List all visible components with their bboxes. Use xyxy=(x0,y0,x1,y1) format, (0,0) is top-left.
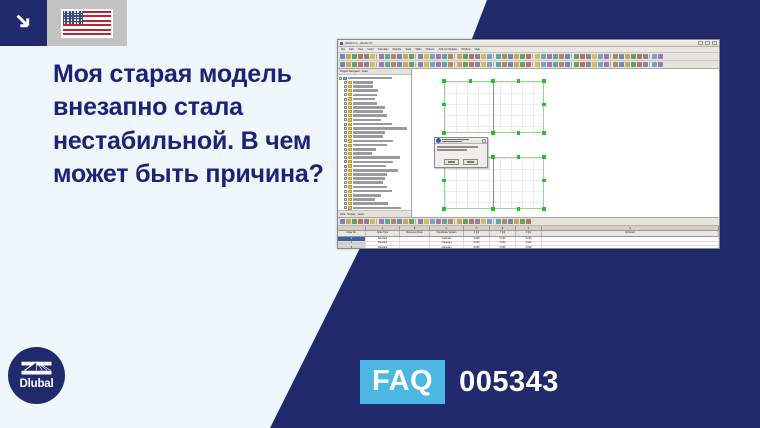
faq-footer: FAQ 005343 xyxy=(360,360,559,404)
expand-icon[interactable] xyxy=(344,106,347,109)
toolbar-icon[interactable] xyxy=(610,54,612,59)
model-node[interactable] xyxy=(442,103,445,106)
toolbar-icon[interactable] xyxy=(376,62,378,67)
toolbar-icon[interactable] xyxy=(508,54,513,59)
menu-item-insert[interactable]: Insert xyxy=(367,48,374,51)
model-node[interactable] xyxy=(491,131,494,134)
expand-icon[interactable] xyxy=(344,144,347,147)
app-toolbar-primary[interactable] xyxy=(338,53,719,61)
toolbar-icon[interactable] xyxy=(469,219,474,224)
model-node[interactable] xyxy=(442,79,445,82)
table-cell-ref[interactable] xyxy=(400,242,430,246)
us-flag-icon xyxy=(61,9,113,38)
model-node[interactable] xyxy=(542,131,545,134)
col-z: Z [m] xyxy=(516,231,542,236)
expand-icon[interactable] xyxy=(344,139,347,142)
menu-item-options[interactable]: Options xyxy=(426,48,435,51)
toolbar-icon[interactable] xyxy=(643,62,648,67)
toolbar-icon[interactable] xyxy=(457,54,462,59)
table-cell-type[interactable]: Standard xyxy=(366,246,400,249)
menu-item-view[interactable]: View xyxy=(358,48,364,51)
navigator-tabs[interactable]: Data Display Views xyxy=(338,210,411,217)
toolbar-icon[interactable] xyxy=(514,219,519,224)
toolbar-icon[interactable] xyxy=(625,54,630,59)
expand-icon[interactable] xyxy=(344,123,347,126)
toolbar-icon[interactable] xyxy=(403,54,408,59)
toolbar-icon[interactable] xyxy=(358,62,363,67)
table-cell-cs[interactable]: Cartesian xyxy=(430,242,464,246)
model-node[interactable] xyxy=(442,207,445,210)
toolbar-icon[interactable] xyxy=(346,54,351,59)
toolbar-icon[interactable] xyxy=(385,219,390,224)
expand-icon[interactable] xyxy=(344,89,347,92)
toolbar-icon[interactable] xyxy=(493,62,495,67)
toolbar-icon[interactable] xyxy=(409,219,414,224)
data-table-panel[interactable]: A B C D E F G Node No. Node Type Referen… xyxy=(338,217,719,249)
project-navigator[interactable]: Project Navigator - Data Data Display Vi… xyxy=(338,69,412,217)
model-node[interactable] xyxy=(469,79,472,82)
table-cell-cs[interactable]: Cartesian xyxy=(430,246,464,249)
model-node[interactable] xyxy=(542,155,545,158)
table-group-b: B xyxy=(400,226,430,230)
toolbar-icon[interactable] xyxy=(496,219,501,224)
toolbar-icon[interactable] xyxy=(475,54,480,59)
col-comment: Comment xyxy=(542,231,719,236)
navigator-tab-views[interactable]: Views xyxy=(357,213,364,216)
toolbar-icon[interactable] xyxy=(442,54,447,59)
navigator-item-label xyxy=(353,94,377,97)
menu-item-table[interactable]: Table xyxy=(415,48,421,51)
toolbar-icon[interactable] xyxy=(586,62,591,67)
toolbar-icon[interactable] xyxy=(475,219,480,224)
expand-icon[interactable] xyxy=(344,206,347,209)
table-toolbar[interactable] xyxy=(338,218,719,226)
toolbar-icon[interactable] xyxy=(580,62,585,67)
toolbar-icon[interactable] xyxy=(514,62,519,67)
toolbar-icon[interactable] xyxy=(559,62,564,67)
toolbar-icon[interactable] xyxy=(637,62,642,67)
navigator-item-label xyxy=(353,148,376,151)
table-cell-x[interactable]: 0.000 xyxy=(464,237,490,241)
navigator-item-label xyxy=(353,161,393,164)
table-cell-x[interactable]: 0.000 xyxy=(464,242,490,246)
toolbar-icon[interactable] xyxy=(541,62,546,67)
menu-item-addons[interactable]: Add-on Modules xyxy=(438,48,457,51)
folder-icon xyxy=(348,148,352,151)
toolbar-icon[interactable] xyxy=(580,54,585,59)
toolbar-icon[interactable] xyxy=(532,62,534,67)
toolbar-icon[interactable] xyxy=(469,62,474,67)
toolbar-icon[interactable] xyxy=(418,54,423,59)
menu-item-results[interactable]: Results xyxy=(393,48,402,51)
table-cell-y[interactable]: 5.000 xyxy=(490,242,516,246)
model-node[interactable] xyxy=(442,131,445,134)
dialog-close-icon[interactable] xyxy=(482,139,486,143)
toolbar-icon[interactable] xyxy=(442,62,447,67)
toolbar-icon[interactable] xyxy=(571,62,573,67)
toolbar-icon[interactable] xyxy=(604,54,609,59)
toolbar-icon[interactable] xyxy=(613,54,618,59)
table-cell-y[interactable]: 5.000 xyxy=(490,246,516,249)
toolbar-icon[interactable] xyxy=(340,54,345,59)
model-workspace[interactable] xyxy=(412,69,719,217)
toolbar-icon[interactable] xyxy=(652,62,657,67)
navigator-item-label xyxy=(353,144,387,147)
menu-item-calculate[interactable]: Calculate xyxy=(378,48,389,51)
folder-icon xyxy=(348,114,352,117)
toolbar-icon[interactable] xyxy=(481,62,486,67)
faq-badge: FAQ xyxy=(360,360,445,404)
toolbar-icon[interactable] xyxy=(346,219,351,224)
toolbar-icon[interactable] xyxy=(463,54,468,59)
model-node[interactable] xyxy=(442,179,445,182)
toolbar-icon[interactable] xyxy=(619,62,624,67)
toolbar-icon[interactable] xyxy=(496,62,501,67)
toolbar-icon[interactable] xyxy=(391,62,396,67)
expand-icon[interactable] xyxy=(344,190,347,193)
toolbar-icon[interactable] xyxy=(430,54,435,59)
dialog-ok-button[interactable] xyxy=(444,159,459,165)
toolbar-icon[interactable] xyxy=(358,54,363,59)
toolbar-icon[interactable] xyxy=(532,54,534,59)
expand-icon[interactable] xyxy=(344,181,347,184)
navigator-item-label xyxy=(353,81,373,84)
arrow-down-right-icon xyxy=(13,12,35,34)
toolbar-icon[interactable] xyxy=(526,62,531,67)
toolbar-icon[interactable] xyxy=(553,54,558,59)
language-flag-badge[interactable] xyxy=(47,0,127,46)
table-cell-type[interactable]: Standard xyxy=(366,242,400,246)
table-cell-ref[interactable] xyxy=(400,246,430,249)
table-cell-no[interactable]: 1 xyxy=(338,237,366,241)
toolbar-icon[interactable] xyxy=(376,219,378,224)
toolbar-icon[interactable] xyxy=(409,54,414,59)
model-center-line-upper xyxy=(493,79,494,135)
toolbar-icon[interactable] xyxy=(481,54,486,59)
folder-icon xyxy=(348,202,352,205)
expand-icon[interactable] xyxy=(339,77,342,80)
expand-icon[interactable] xyxy=(344,135,347,138)
toolbar-icon[interactable] xyxy=(487,62,492,67)
toolbar-icon[interactable] xyxy=(454,62,456,67)
navigator-item-label xyxy=(353,114,387,117)
navigator-item-label xyxy=(353,123,392,126)
table-cell-cs[interactable]: Cartesian xyxy=(430,237,464,241)
toolbar-icon[interactable] xyxy=(526,54,531,59)
app-toolbar-secondary[interactable] xyxy=(338,61,719,69)
col-y: Y [m] xyxy=(490,231,516,236)
toolbar-icon[interactable] xyxy=(496,54,501,59)
toolbar-icon[interactable] xyxy=(385,62,390,67)
toolbar-icon[interactable] xyxy=(376,54,378,59)
expand-icon[interactable] xyxy=(344,102,347,105)
expand-icon[interactable] xyxy=(344,131,347,134)
folder-icon xyxy=(348,135,352,138)
expand-icon[interactable] xyxy=(344,177,347,180)
expand-icon[interactable] xyxy=(344,114,347,117)
toolbar-icon[interactable] xyxy=(502,219,507,224)
toolbar-icon[interactable] xyxy=(385,54,390,59)
toolbar-icon[interactable] xyxy=(418,62,423,67)
toolbar-icon[interactable] xyxy=(391,54,396,59)
toolbar-icon[interactable] xyxy=(370,54,375,59)
window-controls[interactable] xyxy=(698,41,717,45)
toolbar-icon[interactable] xyxy=(415,219,417,224)
navigator-item-label xyxy=(353,190,392,193)
toolbar-icon[interactable] xyxy=(535,54,540,59)
toolbar-icon[interactable] xyxy=(448,54,453,59)
expand-icon[interactable] xyxy=(344,160,347,163)
page-title: Моя старая модель внезапно стала нестаби… xyxy=(53,58,328,191)
toolbar-icon[interactable] xyxy=(520,62,525,67)
model-node[interactable] xyxy=(542,207,545,210)
toolbar-icon[interactable] xyxy=(463,219,468,224)
folder-icon xyxy=(348,194,352,197)
toolbar-icon[interactable] xyxy=(658,62,663,67)
toolbar-icon[interactable] xyxy=(598,54,603,59)
toolbar-icon[interactable] xyxy=(346,62,351,67)
toolbar-icon[interactable] xyxy=(631,54,636,59)
toolbar-icon[interactable] xyxy=(442,219,447,224)
toolbar-icon[interactable] xyxy=(547,62,552,67)
toolbar-icon[interactable] xyxy=(541,54,546,59)
dlubal-logo-text: Dlubal xyxy=(20,379,54,391)
table-cell-z[interactable]: 0.000 xyxy=(516,237,542,241)
toolbar-icon[interactable] xyxy=(403,62,408,67)
toolbar-icon[interactable] xyxy=(403,219,408,224)
toolbar-icon[interactable] xyxy=(457,219,462,224)
toolbar-icon[interactable] xyxy=(436,62,441,67)
toolbar-icon[interactable] xyxy=(379,54,384,59)
toolbar-icon[interactable] xyxy=(493,54,495,59)
folder-icon xyxy=(348,156,352,159)
model-icon xyxy=(343,77,347,80)
toolbar-icon[interactable] xyxy=(574,62,579,67)
table-cell-ref[interactable] xyxy=(400,237,430,241)
navigator-tab-data[interactable]: Data xyxy=(340,213,345,216)
expand-icon[interactable] xyxy=(344,198,347,201)
expand-icon[interactable] xyxy=(344,185,347,188)
toolbar-icon[interactable] xyxy=(358,219,363,224)
dlubal-logo[interactable]: Dlubal xyxy=(8,347,65,404)
toolbar-icon[interactable] xyxy=(547,54,552,59)
expand-icon[interactable] xyxy=(344,202,347,205)
expand-icon[interactable] xyxy=(344,118,347,121)
table-cell-type[interactable]: Standard xyxy=(366,237,400,241)
toolbar-icon[interactable] xyxy=(502,54,507,59)
model-node[interactable] xyxy=(491,207,494,210)
toolbar-icon[interactable] xyxy=(340,62,345,67)
toolbar-icon[interactable] xyxy=(592,54,597,59)
toolbar-icon[interactable] xyxy=(370,219,375,224)
expand-icon[interactable] xyxy=(344,148,347,151)
navigator-tab-display[interactable]: Display xyxy=(347,213,355,216)
toolbar-icon[interactable] xyxy=(415,54,417,59)
navigator-tree[interactable] xyxy=(338,75,411,210)
table-cell-no[interactable]: 3 xyxy=(338,246,366,249)
model-node[interactable] xyxy=(517,79,520,82)
toolbar-icon[interactable] xyxy=(643,54,648,59)
toolbar-icon[interactable] xyxy=(574,54,579,59)
table-cell-z[interactable]: 0.000 xyxy=(516,242,542,246)
toolbar-icon[interactable] xyxy=(418,219,423,224)
model-grid-upper xyxy=(444,81,544,133)
toolbar-icon[interactable] xyxy=(415,62,417,67)
toolbar-icon[interactable] xyxy=(592,62,597,67)
toolbar-icon[interactable] xyxy=(352,219,357,224)
toolbar-icon[interactable] xyxy=(430,62,435,67)
error-dialog[interactable] xyxy=(434,137,488,168)
table-cell-y[interactable]: 0.000 xyxy=(490,237,516,241)
toolbar-icon[interactable] xyxy=(397,62,402,67)
toolbar-icon[interactable] xyxy=(409,62,414,67)
toolbar-icon[interactable] xyxy=(625,62,630,67)
toolbar-icon[interactable] xyxy=(604,62,609,67)
toolbar-icon[interactable] xyxy=(637,54,642,59)
dialog-cancel-button[interactable] xyxy=(463,159,478,165)
table-cell-comment[interactable] xyxy=(542,242,719,246)
toolbar-icon[interactable] xyxy=(391,219,396,224)
toolbar-icon[interactable] xyxy=(613,62,618,67)
toolbar-icon[interactable] xyxy=(631,62,636,67)
model-node[interactable] xyxy=(517,131,520,134)
toolbar-icon[interactable] xyxy=(571,54,573,59)
toolbar-icon[interactable] xyxy=(508,62,513,67)
toolbar-icon[interactable] xyxy=(520,54,525,59)
expand-icon[interactable] xyxy=(344,169,347,172)
toolbar-icon[interactable] xyxy=(454,54,456,59)
toolbar-icon[interactable] xyxy=(340,219,345,224)
app-title: RFEM 5.xx - [Model.rf5] xyxy=(345,42,372,45)
toolbar-icon[interactable] xyxy=(436,54,441,59)
toolbar-icon[interactable] xyxy=(535,62,540,67)
toolbar-icon[interactable] xyxy=(487,219,492,224)
toolbar-icon[interactable] xyxy=(508,219,513,224)
model-node[interactable] xyxy=(542,79,545,82)
toolbar-icon[interactable] xyxy=(553,62,558,67)
table-cell-no[interactable]: 2 xyxy=(338,242,366,246)
expand-icon[interactable] xyxy=(344,98,347,101)
menu-item-help[interactable]: Help xyxy=(475,48,480,51)
toolbar-icon[interactable] xyxy=(586,54,591,59)
dialog-info-icon xyxy=(436,138,441,143)
model-node[interactable] xyxy=(542,179,545,182)
toolbar-icon[interactable] xyxy=(598,62,603,67)
toolbar-icon[interactable] xyxy=(487,54,492,59)
toolbar-icon[interactable] xyxy=(430,219,435,224)
folder-icon xyxy=(348,110,352,113)
toolbar-icon[interactable] xyxy=(619,54,624,59)
toolbar-icon[interactable] xyxy=(502,62,507,67)
expand-icon[interactable] xyxy=(344,194,347,197)
toolbar-icon[interactable] xyxy=(454,219,456,224)
table-cell-z[interactable]: 0.000 xyxy=(516,246,542,249)
toolbar-icon[interactable] xyxy=(565,54,570,59)
toolbar-icon[interactable] xyxy=(658,54,663,59)
toolbar-icon[interactable] xyxy=(352,62,357,67)
toolbar-icon[interactable] xyxy=(649,62,651,67)
table-cell-comment[interactable] xyxy=(542,246,719,249)
toolbar-icon[interactable] xyxy=(457,62,462,67)
toolbar-icon[interactable] xyxy=(559,54,564,59)
expand-icon[interactable] xyxy=(344,165,347,168)
folder-icon xyxy=(348,164,352,167)
model-node[interactable] xyxy=(491,79,494,82)
toolbar-icon[interactable] xyxy=(436,219,441,224)
table-row[interactable]: 3StandardCartesian5.0005.0000.000 xyxy=(338,246,719,249)
toolbar-icon[interactable] xyxy=(424,62,429,67)
toolbar-icon[interactable] xyxy=(610,62,612,67)
app-body: Project Navigator - Data Data Display Vi… xyxy=(338,69,719,217)
toolbar-icon[interactable] xyxy=(565,62,570,67)
toolbar-icon[interactable] xyxy=(364,219,369,224)
expand-icon[interactable] xyxy=(344,93,347,96)
model-node[interactable] xyxy=(542,103,545,106)
folder-icon xyxy=(348,127,352,130)
toolbar-icon[interactable] xyxy=(397,219,402,224)
language-arrow-badge[interactable] xyxy=(0,0,47,46)
toolbar-icon[interactable] xyxy=(469,54,474,59)
navigator-item-label xyxy=(353,198,375,201)
expand-icon[interactable] xyxy=(344,173,347,176)
expand-icon[interactable] xyxy=(344,152,347,155)
toolbar-icon[interactable] xyxy=(397,54,402,59)
navigator-item-label xyxy=(353,135,383,138)
toolbar-icon[interactable] xyxy=(424,219,429,224)
model-node[interactable] xyxy=(517,155,520,158)
model-node[interactable] xyxy=(517,207,520,210)
table-cell-x[interactable]: 5.000 xyxy=(464,246,490,249)
table-body[interactable]: 1StandardCartesian0.0000.0000.0002Standa… xyxy=(338,237,719,249)
menu-item-window[interactable]: Window xyxy=(461,48,470,51)
toolbar-icon[interactable] xyxy=(379,219,384,224)
toolbar-icon[interactable] xyxy=(493,219,495,224)
table-cell-comment[interactable] xyxy=(542,237,719,241)
toolbar-icon[interactable] xyxy=(481,219,486,224)
toolbar-icon[interactable] xyxy=(424,54,429,59)
toolbar-icon[interactable] xyxy=(352,54,357,59)
toolbar-icon[interactable] xyxy=(526,219,531,224)
model-view-upper[interactable] xyxy=(444,81,544,133)
model-node[interactable] xyxy=(491,155,494,158)
toolbar-icon[interactable] xyxy=(370,62,375,67)
toolbar-icon[interactable] xyxy=(448,219,453,224)
toolbar-icon[interactable] xyxy=(520,219,525,224)
col-coord-system: Coordinate System xyxy=(430,231,464,236)
toolbar-icon[interactable] xyxy=(475,62,480,67)
menu-item-file[interactable]: File xyxy=(341,48,345,51)
expand-icon[interactable] xyxy=(344,127,347,130)
expand-icon[interactable] xyxy=(344,85,347,88)
toolbar-icon[interactable] xyxy=(364,54,369,59)
expand-icon[interactable] xyxy=(344,156,347,159)
toolbar-icon[interactable] xyxy=(514,54,519,59)
toolbar-icon[interactable] xyxy=(364,62,369,67)
toolbar-icon[interactable] xyxy=(463,62,468,67)
menu-item-edit[interactable]: Edit xyxy=(349,48,353,51)
toolbar-icon[interactable] xyxy=(649,54,651,59)
toolbar-icon[interactable] xyxy=(448,62,453,67)
navigator-item-label xyxy=(353,119,381,122)
toolbar-icon[interactable] xyxy=(652,54,657,59)
toolbar-icon[interactable] xyxy=(379,62,384,67)
dialog-buttons[interactable] xyxy=(435,159,487,165)
menu-item-tools[interactable]: Tools xyxy=(405,48,411,51)
navigator-item-label xyxy=(353,181,383,184)
expand-icon[interactable] xyxy=(344,81,347,84)
folder-icon xyxy=(348,93,352,96)
expand-icon[interactable] xyxy=(344,110,347,113)
